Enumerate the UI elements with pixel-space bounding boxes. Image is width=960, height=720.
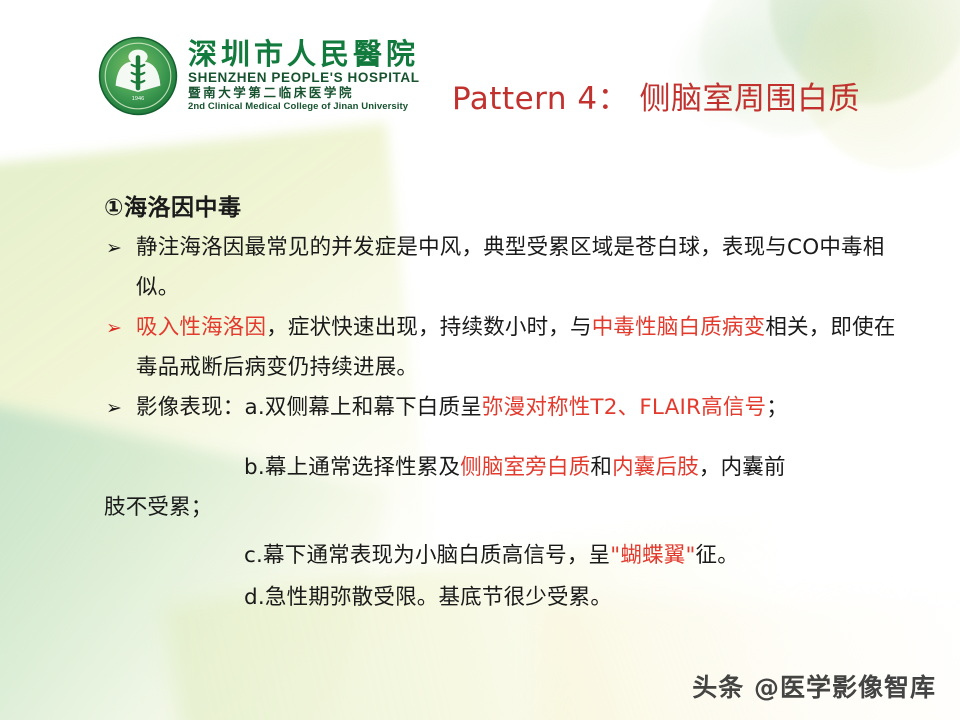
emblem-year-text: 1946 [132, 96, 144, 102]
slide-header: 1946 深圳市人民醫院 SHENZHEN PEOPLE'S HOSPITAL … [0, 0, 960, 130]
hospital-logo-text: 深圳市人民醫院 SHENZHEN PEOPLE'S HOSPITAL 暨南大学第… [188, 39, 420, 113]
bullet-text-3: 影像表现：a.双侧幕上和幕下白质呈弥漫对称性T2、FLAIR高信号； [136, 388, 896, 428]
hospital-logo: 1946 深圳市人民醫院 SHENZHEN PEOPLE'S HOSPITAL … [98, 36, 420, 116]
bullet-text-1: 静注海洛因最常见的并发症是中风，典型受累区域是苍白球，表现与CO中毒相似。 [136, 228, 896, 308]
body-text: ，症状快速出现，持续数小时，与 [266, 315, 592, 340]
section-heading: ①海洛因中毒 [104, 188, 241, 222]
body-text: 征。 [696, 543, 739, 568]
emphasis-text: 吸入性海洛因 [136, 315, 266, 340]
watermark: 头条 @医学影像智库 [692, 668, 936, 704]
sub-line-b: b.幕上通常选择性累及侧脑室旁白质和内囊后肢，内囊前 [244, 448, 786, 488]
slide-title: Pattern 4： 侧脑室周围白质 [452, 73, 860, 118]
sub-line-c: c.幕下通常表现为小脑白质高信号，呈"蝴蝶翼"征。 [244, 536, 739, 576]
body-text: 和 [590, 455, 612, 480]
body-text: ，内囊前 [699, 455, 786, 480]
bullet-arrow-icon: ➢ [106, 308, 136, 348]
bullet-text-2: 吸入性海洛因，症状快速出现，持续数小时，与中毒性脑白质病变相关，即使在毒品戒断后… [136, 308, 896, 388]
college-name-cn: 暨南大学第二临床医学院 [188, 86, 420, 100]
body-text: 影像表现：a.双侧幕上和幕下白质呈 [136, 395, 482, 420]
bullet-arrow-icon: ➢ [106, 388, 136, 428]
sub-line-d: d.急性期弥散受限。基底节很少受累。 [244, 578, 612, 618]
body-text: b.幕上通常选择性累及 [244, 455, 460, 480]
bullet-item-3: ➢ 影像表现：a.双侧幕上和幕下白质呈弥漫对称性T2、FLAIR高信号； [106, 388, 896, 428]
emphasis-text: "蝴蝶翼" [610, 543, 695, 568]
emphasis-text: 中毒性脑白质病变 [592, 315, 766, 340]
bullet-item-2: ➢ 吸入性海洛因，症状快速出现，持续数小时，与中毒性脑白质病变相关，即使在毒品戒… [106, 308, 896, 388]
bullet-arrow-icon: ➢ [106, 228, 136, 268]
hospital-name-cn: 深圳市人民醫院 [188, 39, 420, 69]
emphasis-text: 弥漫对称性T2、FLAIR高信号 [482, 395, 766, 420]
emphasis-text: 侧脑室旁白质 [460, 455, 590, 480]
college-name-en: 2nd Clinical Medical College of Jinan Un… [188, 102, 420, 113]
sub-line-b-wrap: 肢不受累； [104, 488, 213, 528]
body-text: ； [766, 395, 788, 420]
body-text: 静注海洛因最常见的并发症是中风，典型受累区域是苍白球，表现与CO中毒相似。 [136, 235, 884, 300]
emphasis-text: 内囊后肢 [612, 455, 699, 480]
bullet-item-1: ➢ 静注海洛因最常见的并发症是中风，典型受累区域是苍白球，表现与CO中毒相似。 [106, 228, 896, 308]
hospital-name-en: SHENZHEN PEOPLE'S HOSPITAL [188, 71, 420, 86]
slide-canvas: 1946 深圳市人民醫院 SHENZHEN PEOPLE'S HOSPITAL … [0, 0, 960, 720]
hospital-emblem-icon: 1946 [98, 36, 178, 116]
body-text: 肢不受累； [104, 495, 213, 520]
body-text: c.幕下通常表现为小脑白质高信号，呈 [244, 543, 610, 568]
body-text: d.急性期弥散受限。基底节很少受累。 [244, 585, 612, 610]
